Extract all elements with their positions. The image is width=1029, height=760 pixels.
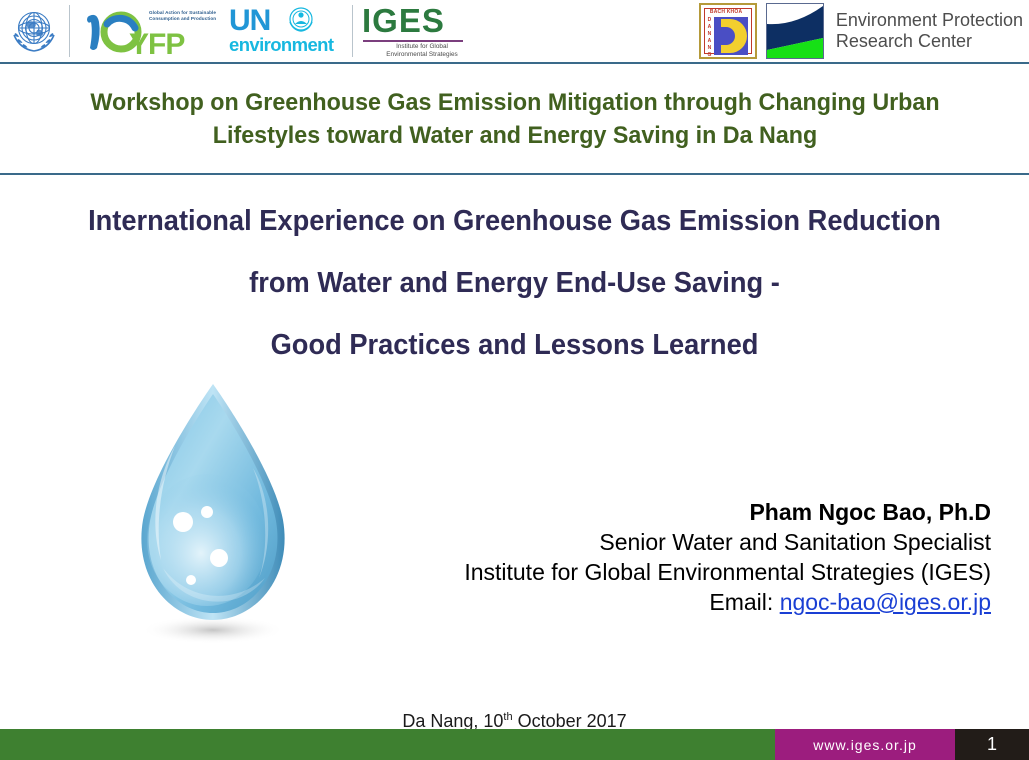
eprc-line-2: Research Center bbox=[836, 31, 1023, 52]
header-logos-left: YFP Global Action for Sustainable Consum… bbox=[0, 0, 468, 62]
author-email-row: Email: ngoc-bao@iges.or.jp bbox=[351, 587, 991, 617]
workshop-banner: Workshop on Greenhouse Gas Emission Miti… bbox=[0, 64, 1029, 175]
un-emblem-icon bbox=[6, 4, 62, 58]
eprc-line-1: Environment Protection bbox=[836, 10, 1023, 31]
footer-green-band bbox=[0, 729, 775, 760]
iges-acronym: IGES bbox=[362, 4, 445, 38]
eprc-name: Environment Protection Research Center bbox=[836, 10, 1023, 52]
10yfp-logo-icon: YFP Global Action for Sustainable Consum… bbox=[77, 2, 227, 60]
author-affiliation: Institute for Global Environmental Strat… bbox=[351, 557, 991, 587]
un-environment-logo: UN environment bbox=[227, 2, 345, 60]
un-environment-un-text: UN bbox=[229, 6, 270, 36]
author-email-label: Email: bbox=[709, 589, 779, 615]
workshop-title: Workshop on Greenhouse Gas Emission Miti… bbox=[68, 86, 961, 152]
un-environment-word-text: environment bbox=[229, 35, 333, 55]
footer-page-number: 1 bbox=[955, 729, 1029, 760]
presentation-title-line-1: International Experience on Greenhouse G… bbox=[31, 190, 998, 252]
bach-khoa-title: BACH KHOA bbox=[710, 9, 742, 15]
author-email-link[interactable]: ngoc-bao@iges.or.jp bbox=[780, 589, 991, 615]
header-logos-right: BACH KHOA D A N A N G Environment Protec… bbox=[699, 0, 1029, 62]
presentation-title-line-2: from Water and Energy End-Use Saving - bbox=[31, 252, 998, 314]
un-environment-emblem-icon bbox=[286, 5, 316, 40]
logo-divider bbox=[69, 5, 70, 57]
presentation-title-line-3: Good Practices and Lessons Learned bbox=[31, 314, 998, 376]
author-block: Pham Ngoc Bao, Ph.D Senior Water and San… bbox=[351, 497, 991, 617]
iges-subtitle: Institute for Global Environmental Strat… bbox=[376, 43, 468, 58]
event-date-ordinal: th bbox=[503, 711, 512, 723]
footer-website-url[interactable]: www.iges.or.jp bbox=[775, 729, 955, 760]
presentation-title: International Experience on Greenhouse G… bbox=[31, 190, 998, 376]
water-drop-icon bbox=[103, 372, 323, 652]
10yfp-subtitle: Global Action for Sustainable Consumptio… bbox=[149, 10, 227, 21]
footer-bar: www.iges.or.jp 1 bbox=[0, 729, 1029, 760]
iges-logo: IGES Institute for Global Environmental … bbox=[360, 2, 468, 60]
eprc-swoosh-icon bbox=[766, 3, 824, 59]
header-logo-bar: YFP Global Action for Sustainable Consum… bbox=[0, 0, 1029, 64]
author-name: Pham Ngoc Bao, Ph.D bbox=[351, 497, 991, 527]
event-date-suffix: October 2017 bbox=[513, 711, 627, 731]
logo-divider bbox=[352, 5, 353, 57]
svg-text:YFP: YFP bbox=[129, 28, 184, 60]
author-role: Senior Water and Sanitation Specialist bbox=[351, 527, 991, 557]
bach-khoa-logo-icon: BACH KHOA D A N A N G bbox=[699, 3, 757, 59]
event-date-prefix: Da Nang, 10 bbox=[402, 711, 503, 731]
bach-khoa-vertical: D A N A N G bbox=[706, 17, 713, 59]
iges-rule bbox=[363, 40, 463, 42]
